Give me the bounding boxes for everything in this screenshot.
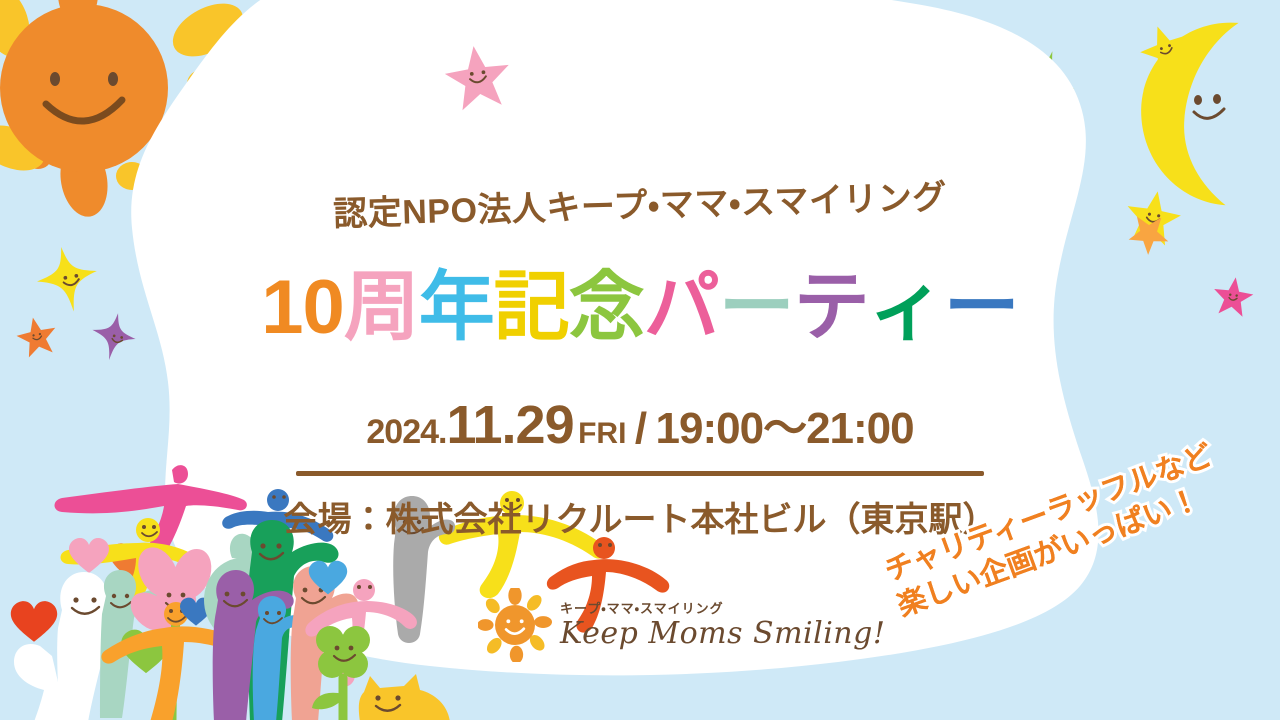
logo-english-name: Keep Moms Smiling! (560, 619, 885, 649)
date-day-of-week: FRI (578, 417, 626, 450)
divider-rule (296, 471, 984, 476)
page-title: 10周年記念パーティー (0, 270, 1280, 346)
title-char-4: 記 (494, 270, 569, 346)
title-char-0: 1 (261, 270, 302, 346)
poster-canvas: 認定NPO法人キープ・ママ・スマイリング 10周年記念パーティー 2024.11… (0, 0, 1280, 720)
title-char-10: ー (944, 270, 1019, 346)
organization-logo: キープ・ママ・スマイリング Keep Moms Smiling! (478, 586, 808, 664)
date-year: 2024. (366, 413, 446, 451)
title-char-9: ィ (869, 270, 944, 346)
date-month-day: 11.29 (446, 395, 573, 455)
title-char-1: 0 (303, 270, 344, 346)
sun-smile-icon (478, 588, 552, 662)
title-char-6: パ (644, 270, 719, 346)
title-char-2: 周 (344, 270, 419, 346)
date-separator: / (631, 404, 651, 453)
title-char-5: 念 (569, 270, 644, 346)
title-char-7: ー (719, 270, 794, 346)
event-date: 2024.11.29 FRI / 19:00〜21:00 (0, 398, 1280, 452)
title-char-3: 年 (419, 270, 494, 346)
logo-text-block: キープ・ママ・スマイリング Keep Moms Smiling! (560, 602, 885, 649)
title-char-8: テ (794, 270, 869, 346)
event-time: 19:00〜21:00 (656, 404, 914, 453)
logo-kana-name: キープ・ママ・スマイリング (560, 602, 885, 615)
